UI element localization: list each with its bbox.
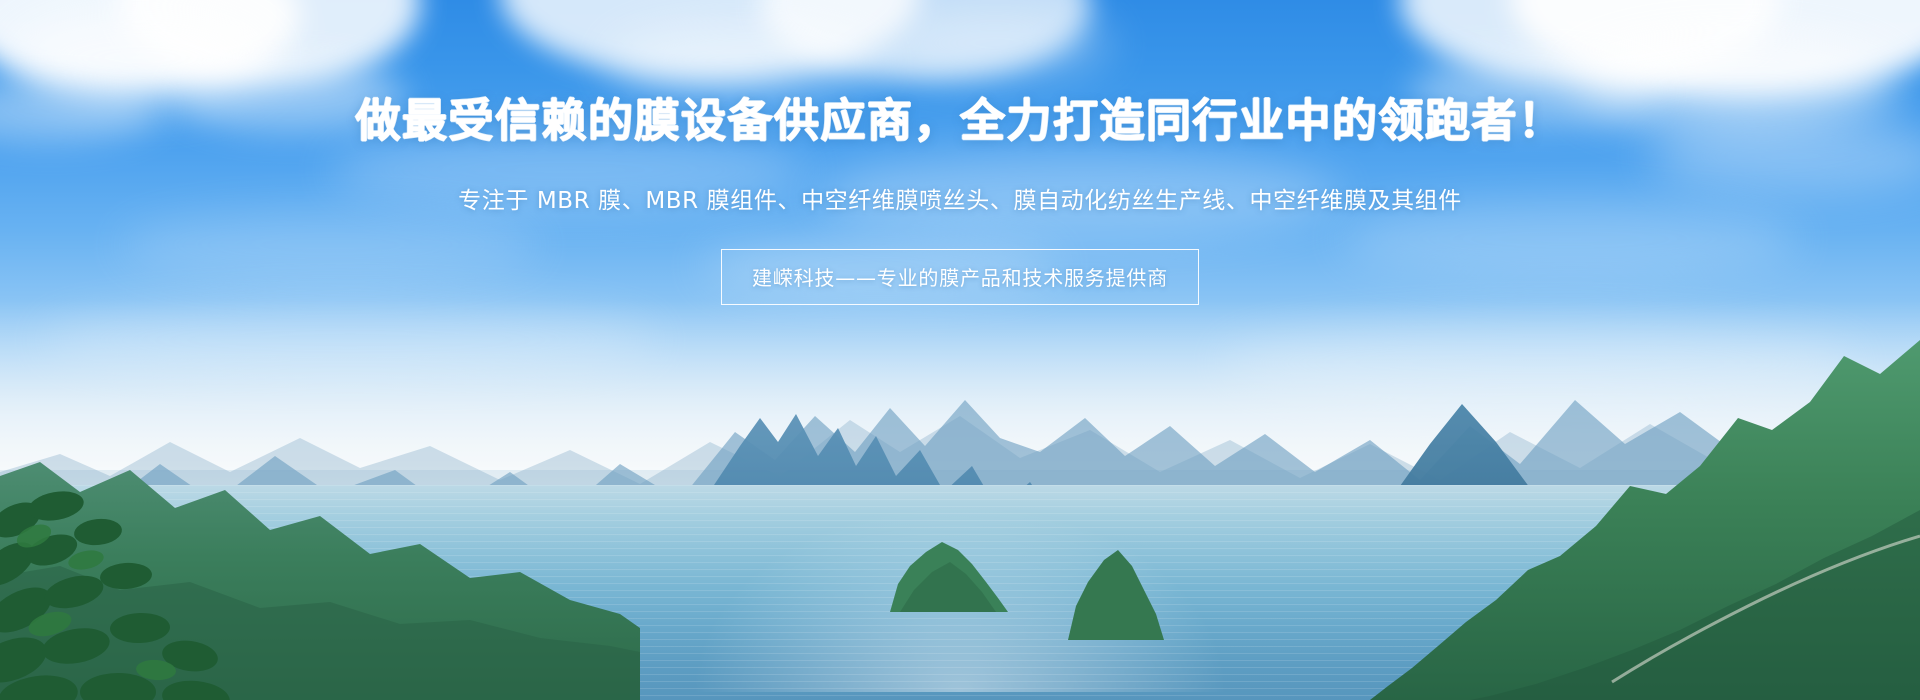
page-title: 做最受信赖的膜设备供应商，全力打造同行业中的领跑者！ <box>355 96 1564 146</box>
tagline-box: 建嵘科技——专业的膜产品和技术服务提供商 <box>721 249 1199 305</box>
landscape-scene <box>0 280 1920 700</box>
cloud-icon <box>610 25 880 97</box>
banner-subtitle: 专注于 MBR 膜、MBR 膜组件、中空纤维膜喷丝头、膜自动化纺丝生产线、中空纤… <box>458 184 1462 219</box>
lake-islet-small <box>1060 544 1170 640</box>
cloud-icon <box>1650 120 1920 192</box>
hero-banner: 做最受信赖的膜设备供应商，全力打造同行业中的领跑者！ 专注于 MBR 膜、MBR… <box>0 0 1920 700</box>
forest-bank-right <box>1160 300 1920 700</box>
foreground-branch <box>0 480 250 700</box>
cloud-icon <box>880 10 1110 76</box>
cloud-icon <box>120 210 540 280</box>
lake-islet <box>880 532 1020 612</box>
